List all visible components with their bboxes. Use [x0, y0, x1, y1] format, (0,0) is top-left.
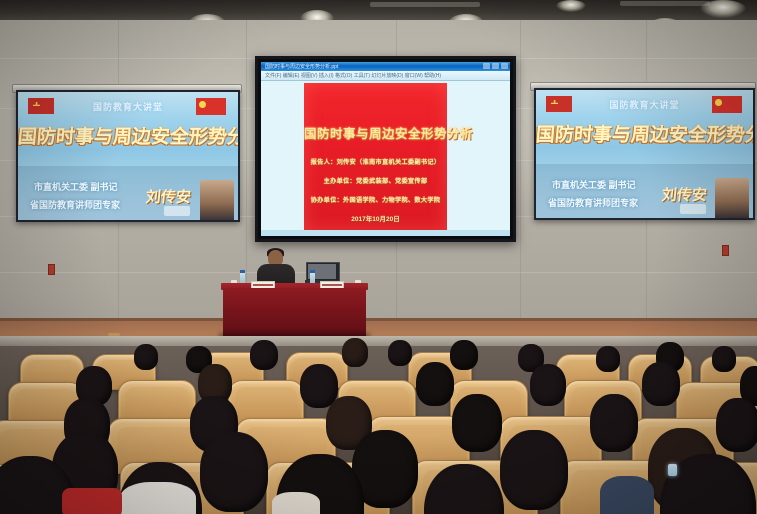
audience-head — [452, 394, 502, 452]
audience-head — [590, 394, 638, 452]
menu-bar-text[interactable]: 文件(F) 编辑(E) 视图(V) 插入(I) 格式(O) 工具(T) 幻灯片放… — [265, 72, 441, 79]
audience-head — [530, 364, 566, 406]
audience-head — [500, 430, 568, 510]
wall-seam — [246, 20, 247, 320]
maximize-button[interactable] — [492, 63, 499, 69]
wall-fixture — [722, 245, 729, 256]
speaker-portrait — [715, 178, 749, 218]
left-projection-screen: 国防教育大讲堂 国防时事与周边安全形势分析 市直机关工委 副书记 省国防教育讲师… — [16, 90, 240, 222]
presentation-slide: 国防时事与周边安全形势分析 报告人：刘传安（淮南市直机关工委副书记） 主办单位：… — [304, 83, 447, 231]
audience-head — [596, 346, 620, 372]
audience-head — [416, 362, 454, 406]
banner-subline-2: 省国防教育讲师团专家 — [548, 196, 638, 209]
audience-red-sleeve — [62, 488, 122, 514]
stage-floor-edge — [0, 318, 757, 321]
slide-line-coorganizer: 协办单位：外国语学院、力物学院、数大学院 — [304, 195, 447, 204]
organizer-logo — [164, 206, 190, 216]
banner-title-text: 国防时事与周边安全形势分析 — [536, 120, 753, 147]
ceiling-panel-strip — [620, 1, 710, 6]
wall-seam — [520, 20, 521, 320]
banner-subline-2: 省国防教育讲师团专家 — [30, 198, 120, 211]
audience-shoulders — [272, 492, 320, 514]
ceiling-spotlight — [556, 0, 586, 12]
right-projection-screen: 国防教育大讲堂 国防时事与周边安全形势分析 市直机关工委 副书记 省国防教育讲师… — [534, 88, 755, 220]
audience-head — [712, 346, 736, 372]
audience-head — [200, 432, 268, 512]
window-titlebar: 国防时事与周边安全形势分析.ppt — [261, 62, 510, 71]
banner-right: 国防教育大讲堂 国防时事与周边安全形势分析 市直机关工委 副书记 省国防教育讲师… — [536, 90, 753, 218]
slide-line-presenter: 报告人：刘传安（淮南市直机关工委副书记） — [304, 157, 447, 166]
audience-head — [716, 398, 757, 452]
audience-head — [342, 338, 368, 367]
audience-head — [250, 340, 278, 370]
window-controls[interactable] — [483, 63, 508, 69]
lecture-hall-photo: 国防教育大讲堂 国防时事与周边安全形势分析 市直机关工委 副书记 省国防教育讲师… — [0, 0, 757, 514]
ceiling-panel-strip — [370, 2, 480, 7]
banner-header-text: 国防教育大讲堂 — [18, 100, 238, 113]
organizer-logo — [680, 204, 706, 214]
slide-title: 国防时事与周边安全形势分析 — [304, 123, 447, 142]
banner-left: 国防教育大讲堂 国防时事与周边安全形势分析 市直机关工委 副书记 省国防教育讲师… — [18, 92, 238, 220]
audience-head — [642, 362, 680, 406]
wall-seam — [0, 272, 757, 273]
banner-subline-1: 市直机关工委 副书记 — [552, 178, 636, 191]
banner-speaker-name: 刘传安 — [661, 184, 708, 205]
audience-phone-screen — [668, 464, 677, 476]
bottle-cap-left — [240, 270, 245, 273]
table-with-red-cloth — [223, 288, 366, 336]
status-bar — [261, 230, 510, 236]
banner-header-text: 国防教育大讲堂 — [536, 98, 753, 111]
audience-shoulders — [120, 482, 196, 514]
audience-head — [450, 340, 478, 370]
seating-front-rail — [0, 336, 757, 346]
menu-toolbar[interactable]: 文件(F) 编辑(E) 视图(V) 插入(I) 格式(O) 工具(T) 幻灯片放… — [261, 71, 510, 81]
center-led-display: 国防时事与周边安全形势分析.ppt 文件(F) 编辑(E) 视图(V) 插入(I… — [255, 56, 516, 242]
banner-title-text: 国防时事与周边安全形势分析 — [18, 122, 238, 149]
banner-speaker-name: 刘传安 — [145, 186, 192, 207]
audience-head — [388, 340, 412, 366]
audience-seating — [0, 336, 757, 514]
speaker-portrait — [200, 180, 234, 220]
window-title-text: 国防时事与周边安全形势分析.ppt — [265, 63, 338, 70]
slide-canvas: 国防时事与周边安全形势分析 报告人：刘传安（淮南市直机关工委副书记） 主办单位：… — [261, 81, 510, 230]
powerpoint-window: 国防时事与周边安全形势分析.ppt 文件(F) 编辑(E) 视图(V) 插入(I… — [261, 62, 510, 236]
audience-shoulders — [600, 476, 654, 514]
slide-line-organizer: 主办单位：党委武装部、党委宣传部 — [304, 176, 447, 185]
wall-fixture — [48, 264, 55, 275]
ceiling-spotlight — [700, 0, 746, 18]
bottle-cap-right — [310, 270, 315, 273]
banner-subline-1: 市直机关工委 副书记 — [34, 180, 118, 193]
slide-date: 2017年10月20日 — [304, 213, 447, 223]
close-button[interactable] — [501, 63, 508, 69]
minimize-button[interactable] — [483, 63, 490, 69]
audience-head — [134, 344, 158, 370]
